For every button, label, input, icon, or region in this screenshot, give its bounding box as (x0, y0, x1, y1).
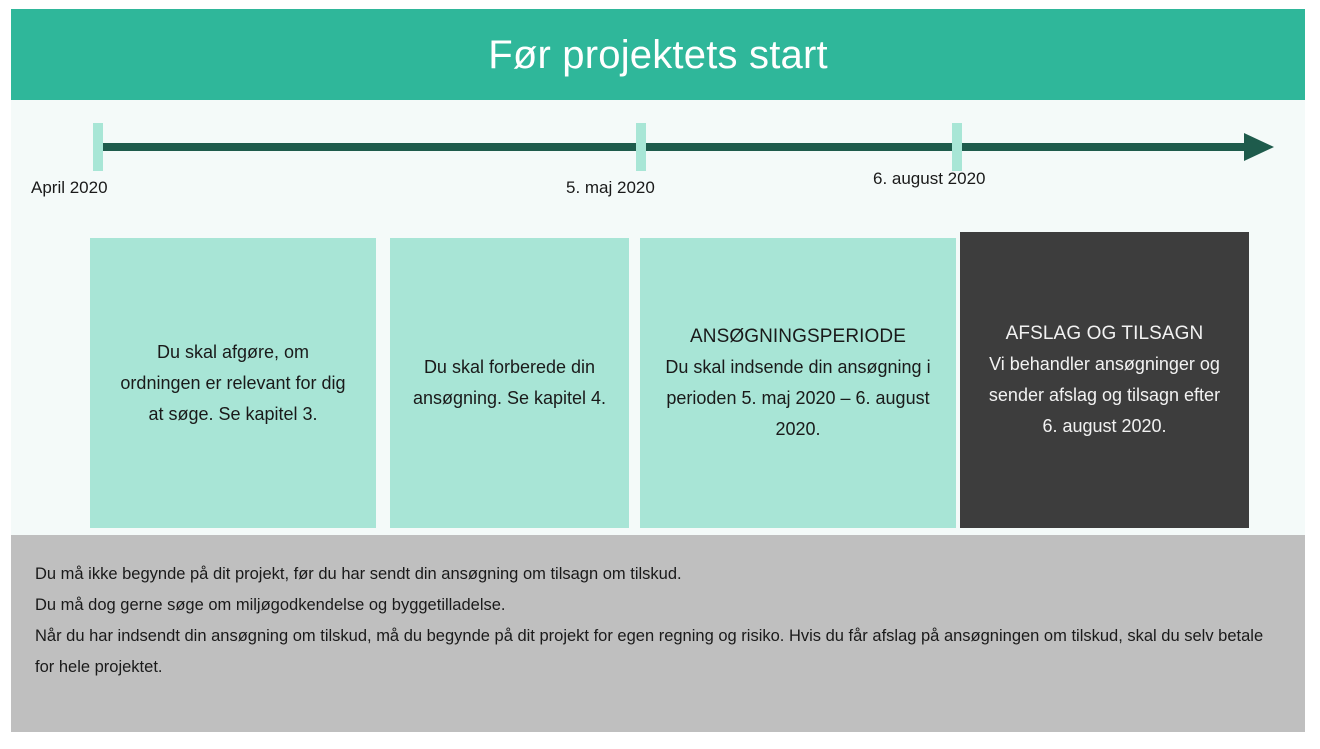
phase-card-4-body: Vi behandler ansøgninger og sender afsla… (985, 349, 1225, 442)
footer-line-1: Du må ikke begynde på dit projekt, før d… (35, 559, 1281, 590)
footer-line-2: Du må dog gerne søge om miljøgodkendelse… (35, 590, 1281, 621)
page-title: Før projektets start (488, 35, 828, 75)
timeline-tick-2 (636, 123, 646, 171)
footer-note: Du må ikke begynde på dit projekt, før d… (11, 535, 1305, 732)
phase-card-4-heading: AFSLAG OG TILSAGN (1006, 318, 1204, 349)
phase-card-1: Du skal afgøre, om ordningen er relevant… (90, 238, 376, 528)
phase-card-2: Du skal forberede din ansøgning. Se kapi… (390, 238, 629, 528)
timeline-label-1: April 2020 (31, 179, 108, 196)
header-banner: Før projektets start (11, 9, 1305, 100)
timeline-arrow-icon (1244, 133, 1274, 161)
phase-card-2-body: Du skal forberede din ansøgning. Se kapi… (412, 352, 608, 414)
timeline-label-3: 6. august 2020 (873, 170, 985, 187)
timeline-tick-3 (952, 123, 962, 171)
phase-cards: Du skal afgøre, om ordningen er relevant… (11, 220, 1305, 535)
phase-card-3: ANSØGNINGSPERIODE Du skal indsende din a… (640, 238, 956, 528)
timeline-tick-1 (93, 123, 103, 171)
timeline-label-2: 5. maj 2020 (566, 179, 655, 196)
phase-card-4: AFSLAG OG TILSAGN Vi behandler ansøgning… (960, 232, 1249, 528)
timeline-axis-line (97, 143, 1264, 151)
phase-card-3-heading: ANSØGNINGSPERIODE (690, 321, 906, 352)
phase-card-1-body: Du skal afgøre, om ordningen er relevant… (115, 337, 351, 430)
timeline: April 2020 5. maj 2020 6. august 2020 (11, 100, 1305, 220)
footer-line-3: Når du har indsendt din ansøgning om til… (35, 621, 1281, 683)
infographic-root: Før projektets start April 2020 5. maj 2… (0, 0, 1320, 749)
phase-card-3-body: Du skal indsende din ansøgning i periode… (663, 352, 933, 445)
